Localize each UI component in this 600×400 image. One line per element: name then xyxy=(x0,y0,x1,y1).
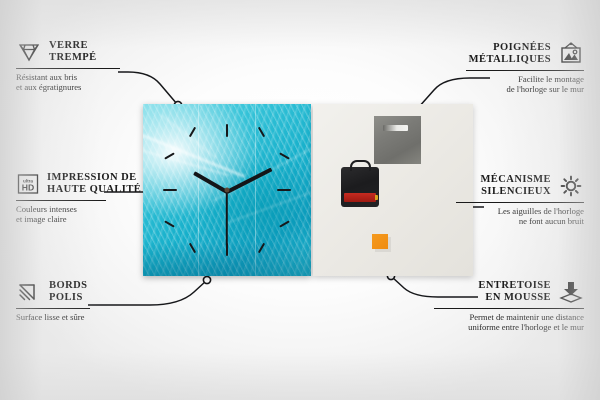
polished-edges-icon xyxy=(16,281,42,303)
clock-face xyxy=(143,104,311,276)
feature-subtitle-line2: de l'horloge sur le mur xyxy=(430,84,584,94)
feature-title-line1: POIGNÉES xyxy=(469,42,551,54)
divider xyxy=(16,68,120,69)
feature-subtitle-line2: et aux égratignures xyxy=(16,82,120,92)
clock-minute-hand xyxy=(226,168,272,194)
feature-mecanisme-silencieux: MÉCANISME SILENCIEUX Les aiguilles de l'… xyxy=(420,174,584,227)
feature-title-line2: HAUTE QUALITÉ xyxy=(47,184,141,196)
clock-tick xyxy=(279,220,290,227)
feature-title-line2: MÉTALLIQUES xyxy=(469,54,551,66)
clock-second-hand xyxy=(226,191,228,246)
infographic-canvas: VERRE TREMPÉ Résistant aux bris et aux é… xyxy=(0,0,600,400)
clock-tick xyxy=(163,189,177,191)
feature-entretoise-en-mousse: ENTRETOISE EN MOUSSE Permet de maintenir… xyxy=(420,280,584,333)
clock-tick xyxy=(164,152,175,159)
feature-bords-polis: BORDS POLIS Surface lisse et sûre xyxy=(16,280,90,322)
metal-hanger-plate xyxy=(374,116,421,164)
ultra-hd-icon: ultra HD xyxy=(16,173,40,195)
gear-icon xyxy=(558,174,584,198)
diamond-icon xyxy=(16,41,42,63)
divider xyxy=(16,200,106,201)
connector-verre-trempe xyxy=(118,72,177,104)
foam-spacer xyxy=(372,234,388,249)
down-arrow-spacer-icon xyxy=(558,280,584,304)
clock-hour-hand xyxy=(193,171,228,193)
anchor-dot-bords-polis xyxy=(203,276,210,283)
feature-subtitle-line1: Surface lisse et sûre xyxy=(16,312,90,322)
clock-tick xyxy=(164,220,175,227)
feature-title-line2: SILENCIEUX xyxy=(480,186,551,198)
mechanism-hook xyxy=(350,160,371,171)
divider xyxy=(456,202,584,203)
feature-subtitle-line1: Couleurs intenses xyxy=(16,204,106,214)
feature-title-line2: POLIS xyxy=(49,292,87,304)
feature-poignees-metalliques: POIGNÉES MÉTALLIQUES Facilite le montage… xyxy=(430,42,584,95)
feature-title-line1: BORDS xyxy=(49,280,87,292)
clock-tick xyxy=(226,124,228,137)
feature-subtitle-line1: Les aiguilles de l'horloge xyxy=(420,206,584,216)
feature-subtitle-line2: uniforme entre l'horloge et le mur xyxy=(420,322,584,332)
feature-subtitle-line2: et image claire xyxy=(16,214,106,224)
clock-front-panel xyxy=(143,104,311,276)
hanger-slot xyxy=(383,125,408,131)
feature-title-line2: TREMPÉ xyxy=(49,52,97,64)
feature-title-line1: ENTRETOISE xyxy=(478,280,551,292)
divider xyxy=(466,70,584,71)
feature-subtitle-line1: Résistant aux bris xyxy=(16,72,120,82)
battery xyxy=(344,193,376,202)
feature-title-line1: VERRE xyxy=(49,40,97,52)
divider xyxy=(434,308,584,309)
svg-text:HD: HD xyxy=(22,183,34,193)
clock-tick xyxy=(189,243,196,254)
clock-tick xyxy=(258,243,265,254)
connector-bords-polis xyxy=(88,281,206,305)
clock-tick xyxy=(277,189,291,191)
feature-impression-haute-qualite: ultra HD IMPRESSION DE HAUTE QUALITÉ Cou… xyxy=(16,172,106,225)
feature-subtitle-line2: ne font aucun bruit xyxy=(420,216,584,226)
divider xyxy=(16,308,90,309)
clock-centre-pivot xyxy=(225,188,230,193)
clock-mechanism xyxy=(341,167,379,207)
clock-tick xyxy=(279,152,290,159)
feature-verre-trempe: VERRE TREMPÉ Résistant aux bris et aux é… xyxy=(16,40,120,93)
feature-subtitle-line1: Permet de maintenir une distance xyxy=(420,312,584,322)
feature-title-line2: EN MOUSSE xyxy=(478,292,551,304)
clock-tick xyxy=(258,127,265,138)
feature-subtitle-line1: Facilite le montage xyxy=(430,74,584,84)
clock-tick xyxy=(189,127,196,138)
feature-title-line1: IMPRESSION DE xyxy=(47,172,141,184)
framed-picture-icon xyxy=(558,42,584,66)
feature-title-line1: MÉCANISME xyxy=(480,174,551,186)
